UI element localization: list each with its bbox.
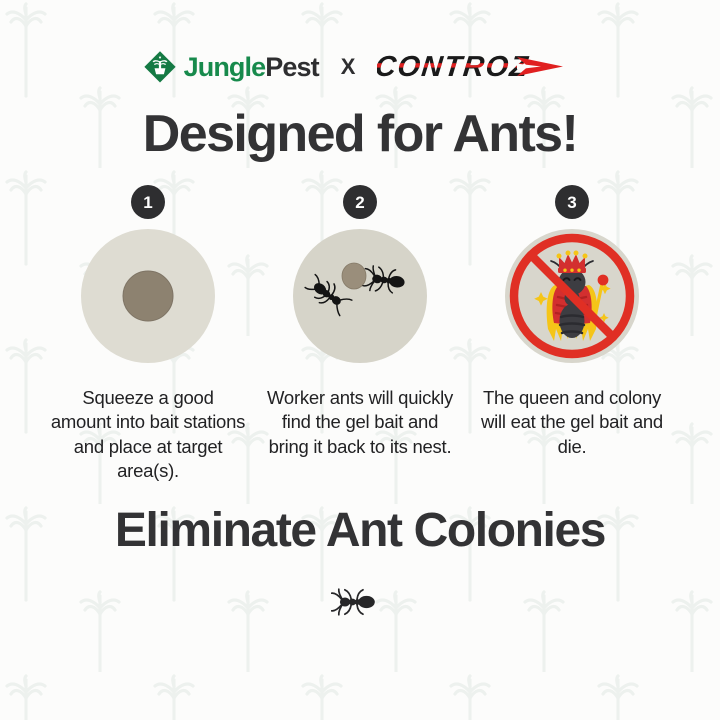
gel-drop-shape <box>81 229 215 363</box>
bait-station-gel-drop-illustration <box>81 229 215 363</box>
wordmark-jungle: Jungle <box>184 52 266 82</box>
queen-scepter <box>595 275 608 317</box>
step-badge-3: 3 <box>555 185 589 219</box>
brand-row: JunglePest X CONTROZ CONTROZ <box>143 47 578 87</box>
step-badge-1: 1 <box>131 185 165 219</box>
queen-ant-prohibited-illustration <box>505 229 639 363</box>
controz-logo[interactable]: CONTROZ CONTROZ <box>377 49 577 85</box>
step-caption-2: Worker ants will quickly find the gel ba… <box>262 386 458 459</box>
step-caption-1: Squeeze a good amount into bait stations… <box>50 386 246 483</box>
collab-separator: X <box>335 56 362 78</box>
steps-row: 1 Squeeze a good amount into bait statio… <box>50 185 670 483</box>
step-3: 3 <box>474 185 670 459</box>
step-caption-3: The queen and colony will eat the gel ba… <box>474 386 670 459</box>
gel-droplet <box>342 263 366 289</box>
worker-ants-carrying-gel-illustration <box>293 229 427 363</box>
step-1: 1 Squeeze a good amount into bait statio… <box>50 185 246 483</box>
step-2: 2 <box>262 185 458 459</box>
queen-crown-icon <box>557 251 588 274</box>
junglepest-diamond-tree-logo <box>143 50 177 84</box>
junglepest-wordmark: JunglePest <box>184 54 319 81</box>
poster-canvas: JunglePest X CONTROZ CONTROZ Designed fo <box>0 0 720 720</box>
junglepest-logo[interactable]: JunglePest <box>143 50 319 84</box>
step-badge-2: 2 <box>343 185 377 219</box>
ant-silhouette-icon <box>331 583 389 621</box>
wordmark-pest: Pest <box>265 52 318 82</box>
page-title: Designed for Ants! <box>143 107 577 161</box>
footer-headline: Eliminate Ant Colonies <box>115 507 605 555</box>
worker-ant-right-icon <box>363 265 406 295</box>
